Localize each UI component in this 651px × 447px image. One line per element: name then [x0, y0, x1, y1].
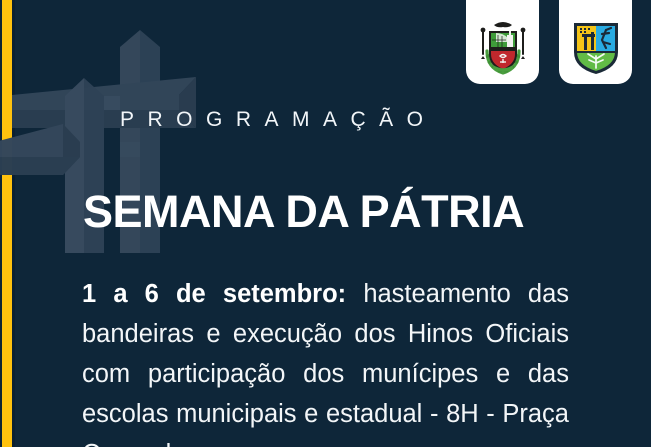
yellow-accent-stripe — [2, 0, 12, 447]
secondary-coat-of-arms-icon — [571, 20, 621, 76]
poster-canvas: PROGRAMAÇÃO SEMANA DA PÁTRIA 1 a 6 de se… — [0, 0, 651, 447]
emblem-card-municipal — [466, 0, 539, 84]
page-title: SEMANA DA PÁTRIA — [83, 186, 524, 238]
schedule-date-label: 1 a 6 de setembro: — [82, 280, 346, 308]
accent-stripe-shadow — [12, 0, 15, 447]
municipal-coat-of-arms-icon — [476, 18, 530, 76]
schedule-paragraph: 1 a 6 de setembro: hasteamento das bande… — [82, 274, 569, 447]
page-kicker: PROGRAMAÇÃO — [120, 108, 437, 132]
emblem-row — [466, 0, 632, 84]
emblem-card-secondary — [559, 0, 632, 84]
